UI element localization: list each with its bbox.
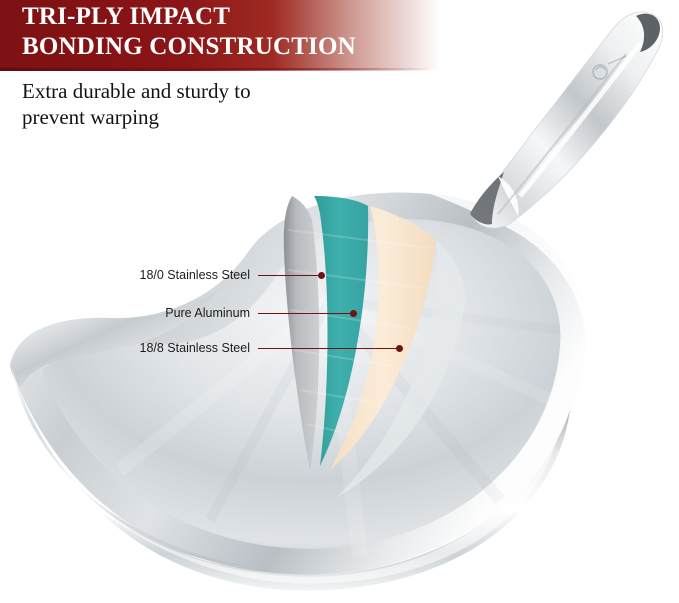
callout-leader-line-2 [258,313,352,314]
callout-marker-dot-3 [396,345,403,352]
product-illustration [0,0,679,603]
callout-leader-line-1 [258,275,320,276]
wok-handle [470,12,663,228]
callout-marker-dot-2 [350,310,357,317]
callout-label-18-8-stainless-steel: 18/8 Stainless Steel [40,341,250,355]
callout-label-18-0-stainless-steel: 18/0 Stainless Steel [40,268,250,282]
infographic-canvas: TRI-PLY IMPACT BONDING CONSTRUCTION Extr… [0,0,679,603]
callout-label-pure-aluminum: Pure Aluminum [40,306,250,320]
callout-marker-dot-1 [318,272,325,279]
callout-leader-line-3 [258,348,398,349]
